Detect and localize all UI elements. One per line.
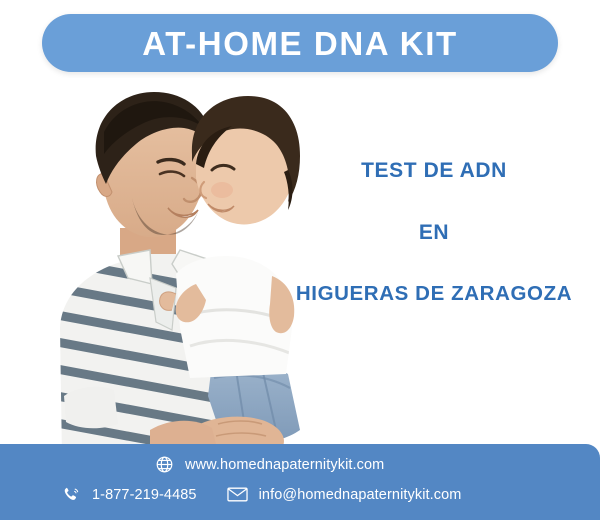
website-contact[interactable]: www.homednapaternitykit.com [155, 455, 384, 474]
phone-label: 1-877-219-4485 [92, 487, 197, 503]
email-label: info@homednapaternitykit.com [259, 487, 462, 503]
email-contact[interactable]: info@homednapaternitykit.com [227, 485, 462, 504]
globe-icon [155, 455, 174, 474]
headline-line-3: HIGUERAS DE ZARAGOZA [268, 284, 600, 305]
phone-contact[interactable]: 1-877-219-4485 [62, 485, 197, 504]
page-title: AT-HOME DNA KIT [142, 27, 457, 60]
poster-canvas: AT-HOME DNA KIT [0, 0, 600, 520]
website-label: www.homednapaternitykit.com [185, 457, 384, 473]
phone-icon [62, 485, 81, 504]
headline-line-1: TEST DE ADN [268, 160, 600, 181]
title-banner: AT-HOME DNA KIT [42, 14, 558, 72]
website-row: www.homednapaternitykit.com [155, 455, 384, 474]
headline-block: TEST DE ADN EN HIGUERAS DE ZARAGOZA [268, 160, 600, 305]
headline-line-2: EN [268, 222, 600, 243]
envelope-icon [227, 485, 248, 504]
contact-footer-bar: www.homednapaternitykit.com 1-877-219-44… [0, 444, 600, 520]
contact-row: 1-877-219-4485 info@homednapaternitykit.… [62, 485, 462, 504]
